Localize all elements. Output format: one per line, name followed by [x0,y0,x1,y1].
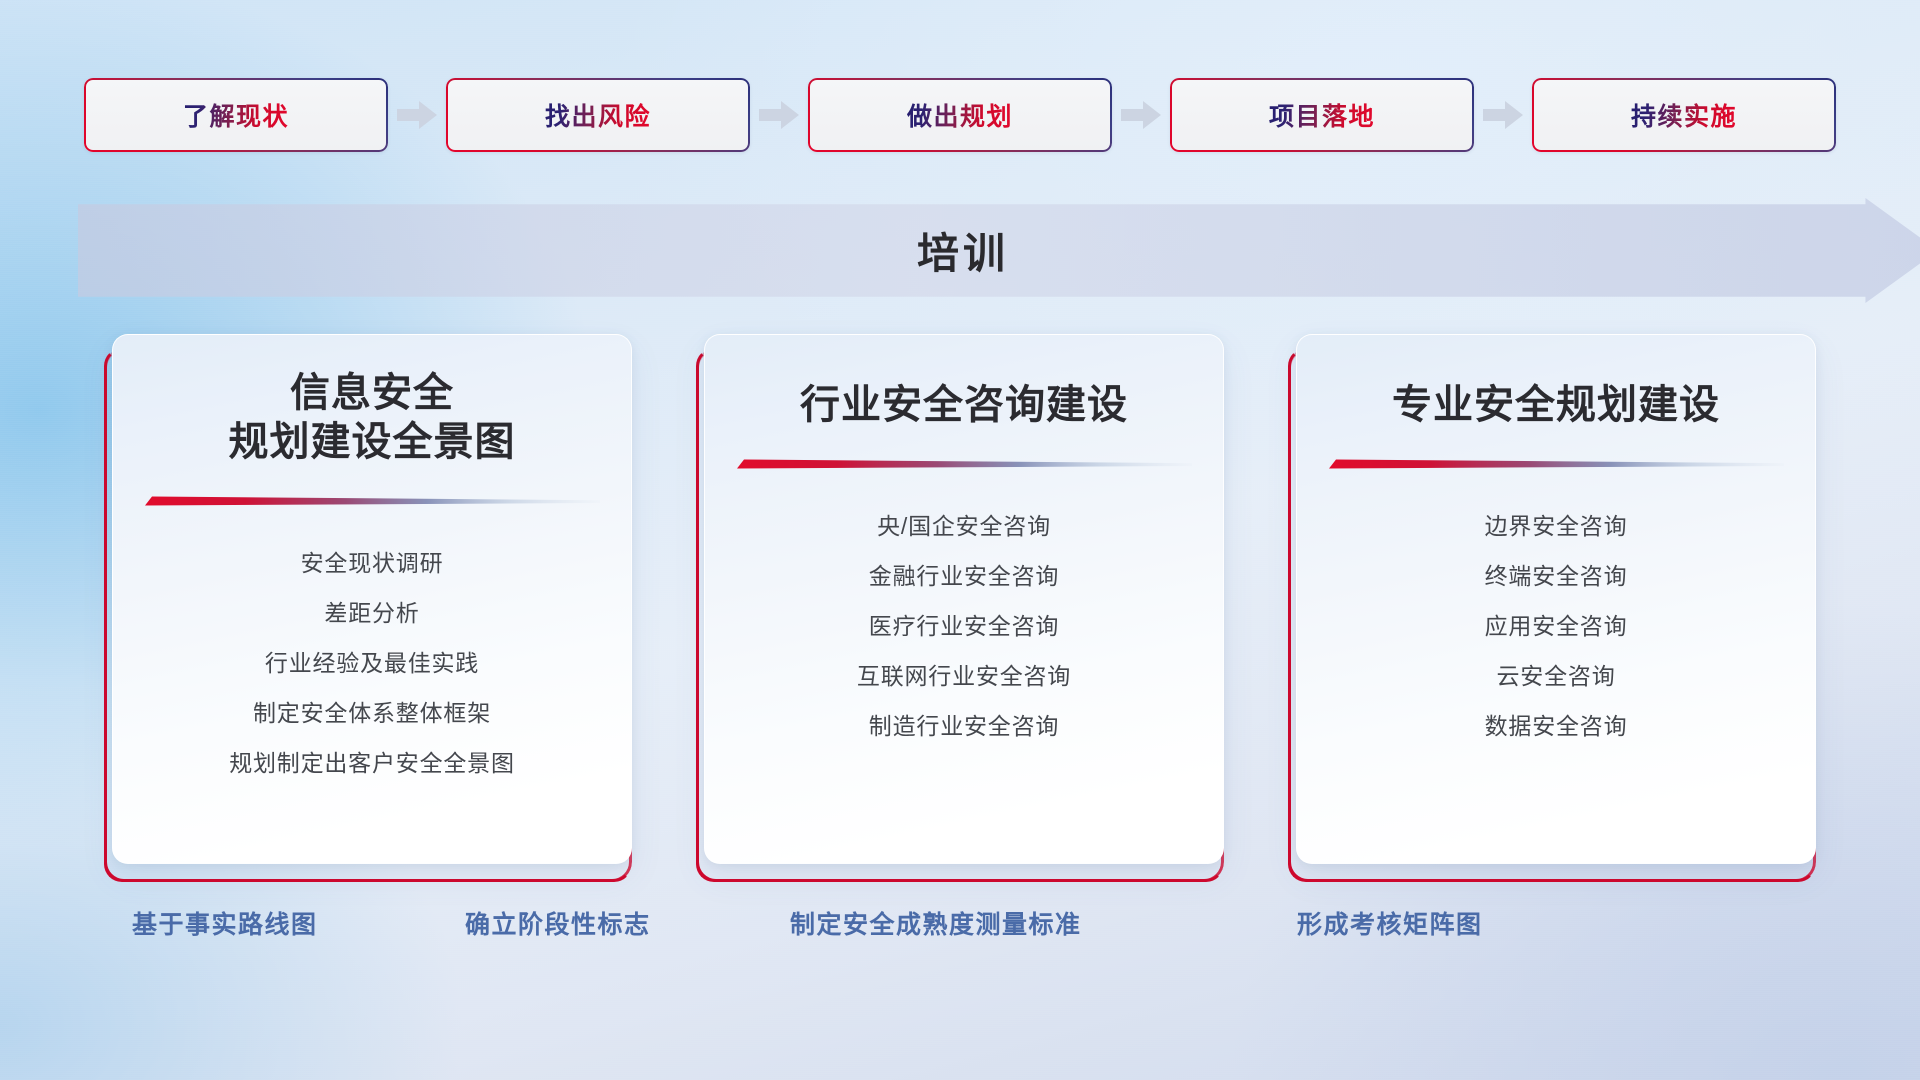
flow-step-label: 项目落地 [1269,97,1375,133]
tapered-gradient-rule-icon [737,458,1192,471]
list-item: 金融行业安全咨询 [869,551,1059,601]
list-item: 互联网行业安全咨询 [857,651,1071,701]
card-title-line: 专业安全规划建设 [1392,381,1720,430]
card-wrapper-3: 专业安全规划建设 [1288,334,1816,882]
card-wrapper-2: 行业安全咨询建设 [696,334,1224,882]
list-item: 差距分析 [324,588,419,638]
flow-step-label: 了解现状 [183,97,289,133]
capability-card-3[interactable]: 专业安全规划建设 [1296,334,1816,864]
list-item: 医疗行业安全咨询 [869,601,1059,651]
footnote-row: 基于事实路线图 确立阶段性标志 制定安全成熟度测量标准 形成考核矩阵图 [0,905,1920,975]
footnote-caption-1: 基于事实路线图 [132,905,318,941]
card-title-line: 行业安全咨询建设 [800,381,1128,430]
flow-step-3[interactable]: 做出规划 [808,78,1112,152]
footnote-caption-4: 形成考核矩阵图 [1297,905,1483,941]
card-title: 专业安全规划建设 [1392,381,1720,430]
footnote-caption-2: 确立阶段性标志 [465,905,651,941]
flow-arrow-icon-2 [750,78,808,152]
slide-canvas: 了解现状 找出风险 做出规划 项目落地 [0,0,1920,1080]
footnote-caption-3: 制定安全成熟度测量标准 [790,905,1082,941]
flow-step-2[interactable]: 找出风险 [446,78,750,152]
flow-step-label: 做出规划 [907,97,1013,133]
flow-arrow-icon-1 [388,78,446,152]
list-item: 安全现状调研 [301,538,444,588]
flow-step-label: 找出风险 [545,97,651,133]
list-item: 行业经验及最佳实践 [265,638,479,688]
flow-arrow-icon-3 [1112,78,1170,152]
flow-step-5[interactable]: 持续实施 [1532,78,1836,152]
list-item: 数据安全咨询 [1485,701,1628,751]
list-item: 终端安全咨询 [1485,551,1628,601]
tapered-gradient-rule-icon [145,495,600,508]
card-item-list-1: 安全现状调研 差距分析 行业经验及最佳实践 制定安全体系整体框架 规划制定出客户… [113,538,631,788]
flow-step-4[interactable]: 项目落地 [1170,78,1474,152]
training-banner-label: 培训 [78,198,1920,303]
list-item: 边界安全咨询 [1485,501,1628,551]
flow-step-label: 持续实施 [1631,97,1737,133]
flow-step-1[interactable]: 了解现状 [84,78,388,152]
card-item-list-3: 边界安全咨询 终端安全咨询 应用安全咨询 云安全咨询 数据安全咨询 [1297,501,1815,751]
card-wrapper-1: 信息安全 规划建设全景图 [104,334,632,882]
list-item: 应用安全咨询 [1485,601,1628,651]
card-title-line: 规划建设全景图 [229,418,516,467]
list-item: 云安全咨询 [1497,651,1616,701]
card-title: 信息安全 规划建设全景图 [229,369,516,467]
list-item: 央/国企安全咨询 [877,501,1051,551]
capability-card-2[interactable]: 行业安全咨询建设 [704,334,1224,864]
flow-arrow-icon-4 [1474,78,1532,152]
tapered-gradient-rule-icon [1329,458,1784,471]
process-flow-steps: 了解现状 找出风险 做出规划 项目落地 [0,78,1920,152]
card-title: 行业安全咨询建设 [800,381,1128,430]
list-item: 规划制定出客户安全全景图 [229,738,515,788]
capability-card-1[interactable]: 信息安全 规划建设全景图 [112,334,632,864]
capability-cards: 信息安全 规划建设全景图 [0,334,1920,894]
list-item: 制造行业安全咨询 [869,701,1059,751]
card-item-list-2: 央/国企安全咨询 金融行业安全咨询 医疗行业安全咨询 互联网行业安全咨询 制造行… [705,501,1223,751]
training-banner: 培训 [78,198,1920,303]
card-title-line: 信息安全 [229,369,516,418]
list-item: 制定安全体系整体框架 [253,688,491,738]
